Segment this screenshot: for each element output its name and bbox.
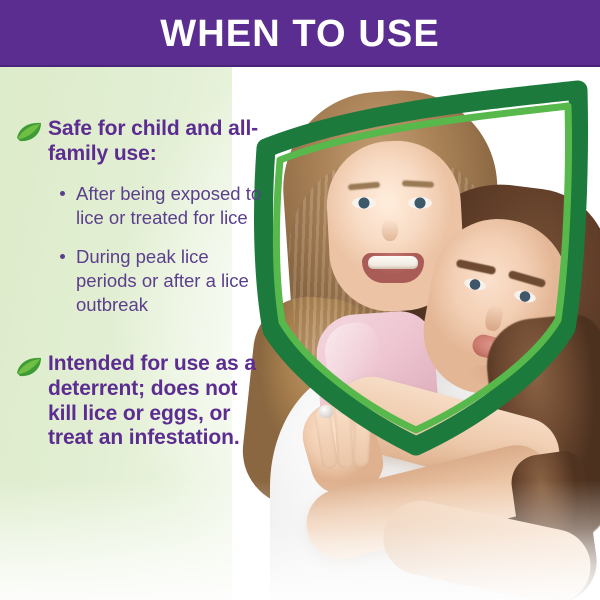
list-item: During peak lice periods or after a lice… — [60, 245, 262, 316]
header-bar: WHEN TO USE — [0, 0, 600, 67]
page-title: WHEN TO USE — [160, 15, 440, 53]
bullet-dot — [60, 254, 65, 259]
benefit-subitems: After being exposed to lice or treated f… — [48, 182, 262, 316]
benefit-block-2: Intended for use as a deterrent; does no… — [0, 352, 262, 450]
leaf-icon — [16, 122, 42, 142]
benefit-title: Intended for use as a deterrent; does no… — [48, 352, 262, 450]
leaf-icon — [16, 357, 42, 377]
shield-frame-icon — [236, 78, 588, 446]
poster-canvas: WHEN TO USE Safe for child and all-famil… — [0, 0, 600, 600]
bullet-dot — [60, 191, 65, 196]
list-item-label: After being exposed to lice or treated f… — [76, 183, 261, 228]
list-item: After being exposed to lice or treated f… — [60, 182, 262, 229]
list-item-label: During peak lice periods or after a lice… — [76, 246, 249, 314]
benefit-block-1: Safe for child and all-family use: After… — [0, 117, 262, 316]
benefit-title: Safe for child and all-family use: — [48, 117, 262, 166]
lower-white-fade — [0, 480, 600, 600]
benefits-copy-column: Safe for child and all-family use: After… — [0, 67, 262, 451]
